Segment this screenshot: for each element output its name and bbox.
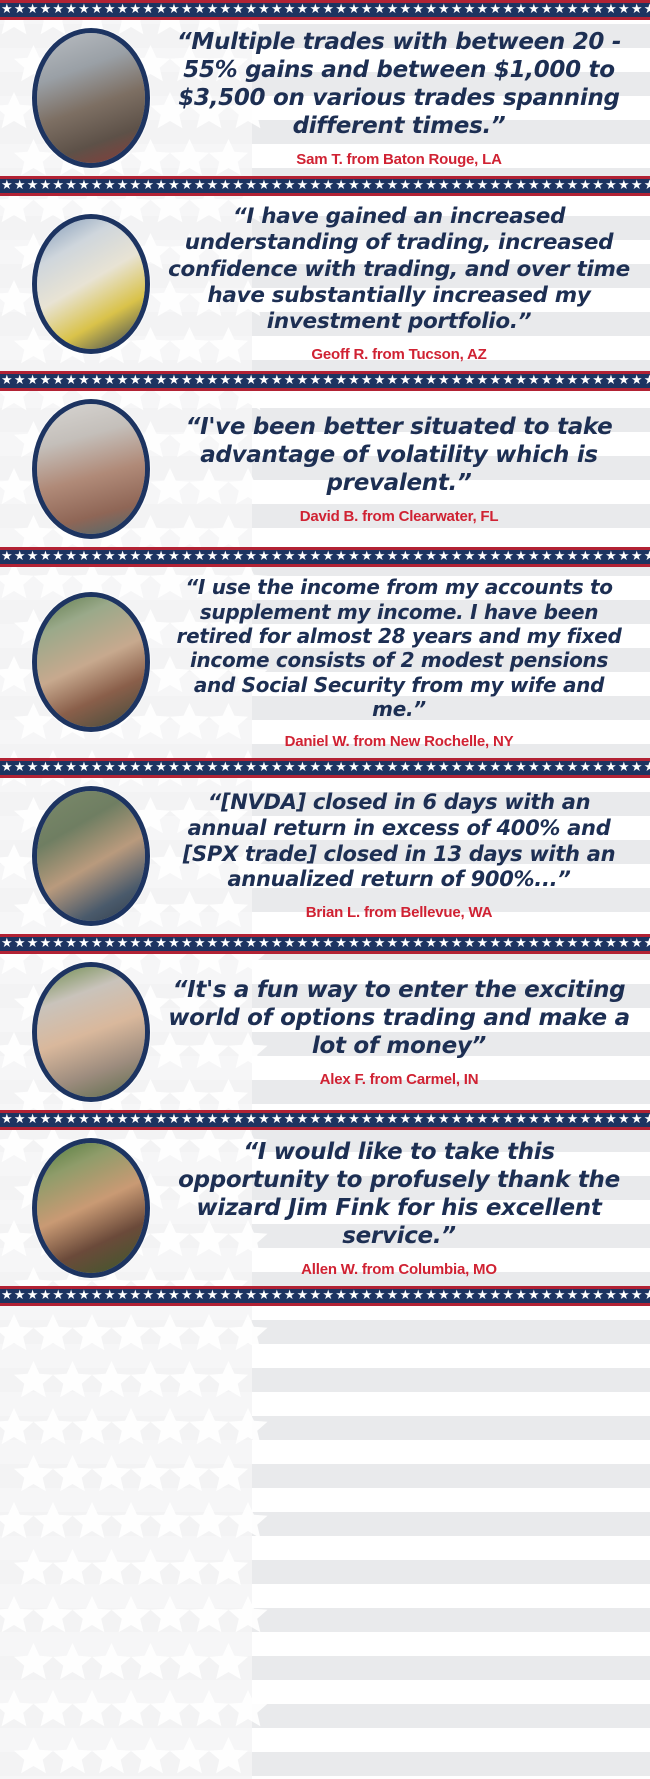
avatar-photo-allen-w — [37, 1143, 145, 1273]
divider-stars-text: ★★★★★★★★★★★★★★★★★★★★★★★★★★★★★★★★★★★★★★★★… — [0, 550, 650, 564]
star-divider-2: ★★★★★★★★★★★★★★★★★★★★★★★★★★★★★★★★★★★★★★★★… — [0, 176, 650, 196]
avatar-photo-david-b — [37, 404, 145, 534]
avatar-wrap — [32, 962, 150, 1102]
avatar-photo-alex-f — [37, 967, 145, 1097]
star-divider-3: ★★★★★★★★★★★★★★★★★★★★★★★★★★★★★★★★★★★★★★★★… — [0, 371, 650, 391]
quote-text: “I've been better situated to take advan… — [168, 413, 630, 497]
testimonial-panel-geoff-r: “I have gained an increased understandin… — [0, 196, 650, 371]
testimonial-panel-brian-l: “[NVDA] closed in 6 days with an annual … — [0, 778, 650, 934]
avatar-wrap — [32, 399, 150, 539]
divider-stars-text: ★★★★★★★★★★★★★★★★★★★★★★★★★★★★★★★★★★★★★★★★… — [0, 1113, 650, 1127]
star-divider-4: ★★★★★★★★★★★★★★★★★★★★★★★★★★★★★★★★★★★★★★★★… — [0, 547, 650, 567]
testimonial-panel-david-b: “I've been better situated to take advan… — [0, 391, 650, 547]
star-divider-8: ★★★★★★★★★★★★★★★★★★★★★★★★★★★★★★★★★★★★★★★★… — [0, 1286, 650, 1306]
star-divider-5: ★★★★★★★★★★★★★★★★★★★★★★★★★★★★★★★★★★★★★★★★… — [0, 758, 650, 778]
avatar-wrap — [32, 214, 150, 354]
divider-stars-text: ★★★★★★★★★★★★★★★★★★★★★★★★★★★★★★★★★★★★★★★★… — [0, 374, 650, 388]
avatar-wrap — [32, 1138, 150, 1278]
divider-stars-text: ★★★★★★★★★★★★★★★★★★★★★★★★★★★★★★★★★★★★★★★★… — [0, 1289, 650, 1303]
avatar-wrap — [32, 28, 150, 168]
attribution: Allen W. from Columbia, MO — [168, 1261, 630, 1278]
testimonial-panel-alex-f: “It's a fun way to enter the exciting wo… — [0, 954, 650, 1110]
quote-text: “Multiple trades with between 20 - 55% g… — [168, 28, 630, 140]
divider-stars-text: ★★★★★★★★★★★★★★★★★★★★★★★★★★★★★★★★★★★★★★★★… — [0, 3, 650, 17]
divider-star-band: ★★★★★★★★★★★★★★★★★★★★★★★★★★★★★★★★★★★★★★★★… — [0, 374, 650, 388]
testimonial-panel-allen-w: “I would like to take this opportunity t… — [0, 1130, 650, 1286]
divider-stars-text: ★★★★★★★★★★★★★★★★★★★★★★★★★★★★★★★★★★★★★★★★… — [0, 937, 650, 951]
quote-block: “I would like to take this opportunity t… — [158, 1138, 636, 1278]
avatar-photo-geoff-r — [37, 219, 145, 349]
avatar — [32, 28, 150, 168]
avatar-wrap — [32, 592, 150, 732]
divider-star-band: ★★★★★★★★★★★★★★★★★★★★★★★★★★★★★★★★★★★★★★★★… — [0, 1289, 650, 1303]
avatar-photo-brian-l — [37, 791, 145, 921]
quote-text: “[NVDA] closed in 6 days with an annual … — [168, 790, 630, 892]
quote-block: “I use the income from my accounts to su… — [158, 575, 636, 749]
avatar — [32, 786, 150, 926]
attribution: Geoff R. from Tucson, AZ — [168, 346, 630, 363]
quote-block: “I've been better situated to take advan… — [158, 413, 636, 525]
quote-block: “[NVDA] closed in 6 days with an annual … — [158, 790, 636, 920]
divider-stars-text: ★★★★★★★★★★★★★★★★★★★★★★★★★★★★★★★★★★★★★★★★… — [0, 761, 650, 775]
avatar — [32, 592, 150, 732]
avatar — [32, 214, 150, 354]
divider-star-band: ★★★★★★★★★★★★★★★★★★★★★★★★★★★★★★★★★★★★★★★★… — [0, 3, 650, 17]
testimonial-panel-sam-t: “Multiple trades with between 20 - 55% g… — [0, 20, 650, 176]
attribution: Alex F. from Carmel, IN — [168, 1071, 630, 1088]
star-divider-7: ★★★★★★★★★★★★★★★★★★★★★★★★★★★★★★★★★★★★★★★★… — [0, 1110, 650, 1130]
avatar — [32, 962, 150, 1102]
avatar-photo-sam-t — [37, 33, 145, 163]
attribution: Sam T. from Baton Rouge, LA — [168, 151, 630, 168]
quote-text: “It's a fun way to enter the exciting wo… — [168, 976, 630, 1060]
divider-star-band: ★★★★★★★★★★★★★★★★★★★★★★★★★★★★★★★★★★★★★★★★… — [0, 179, 650, 193]
divider-star-band: ★★★★★★★★★★★★★★★★★★★★★★★★★★★★★★★★★★★★★★★★… — [0, 1113, 650, 1127]
quote-text: “I use the income from my accounts to su… — [168, 575, 630, 721]
divider-star-band: ★★★★★★★★★★★★★★★★★★★★★★★★★★★★★★★★★★★★★★★★… — [0, 937, 650, 951]
quote-block: “It's a fun way to enter the exciting wo… — [158, 976, 636, 1088]
divider-star-band: ★★★★★★★★★★★★★★★★★★★★★★★★★★★★★★★★★★★★★★★★… — [0, 761, 650, 775]
attribution: Daniel W. from New Rochelle, NY — [168, 733, 630, 750]
testimonial-panel-daniel-w: “I use the income from my accounts to su… — [0, 567, 650, 757]
avatar-photo-daniel-w — [37, 597, 145, 727]
quote-block: “I have gained an increased understandin… — [158, 204, 636, 363]
quote-text: “I would like to take this opportunity t… — [168, 1138, 630, 1250]
divider-star-band: ★★★★★★★★★★★★★★★★★★★★★★★★★★★★★★★★★★★★★★★★… — [0, 550, 650, 564]
star-divider-6: ★★★★★★★★★★★★★★★★★★★★★★★★★★★★★★★★★★★★★★★★… — [0, 934, 650, 954]
quote-text: “I have gained an increased understandin… — [168, 204, 630, 335]
attribution: David B. from Clearwater, FL — [168, 508, 630, 525]
avatar-wrap — [32, 786, 150, 926]
avatar — [32, 399, 150, 539]
star-divider-1: ★★★★★★★★★★★★★★★★★★★★★★★★★★★★★★★★★★★★★★★★… — [0, 0, 650, 20]
avatar — [32, 1138, 150, 1278]
attribution: Brian L. from Bellevue, WA — [168, 904, 630, 921]
quote-block: “Multiple trades with between 20 - 55% g… — [158, 28, 636, 168]
testimonials-list: ★★★★★★★★★★★★★★★★★★★★★★★★★★★★★★★★★★★★★★★★… — [0, 0, 650, 1306]
divider-stars-text: ★★★★★★★★★★★★★★★★★★★★★★★★★★★★★★★★★★★★★★★★… — [0, 179, 650, 193]
